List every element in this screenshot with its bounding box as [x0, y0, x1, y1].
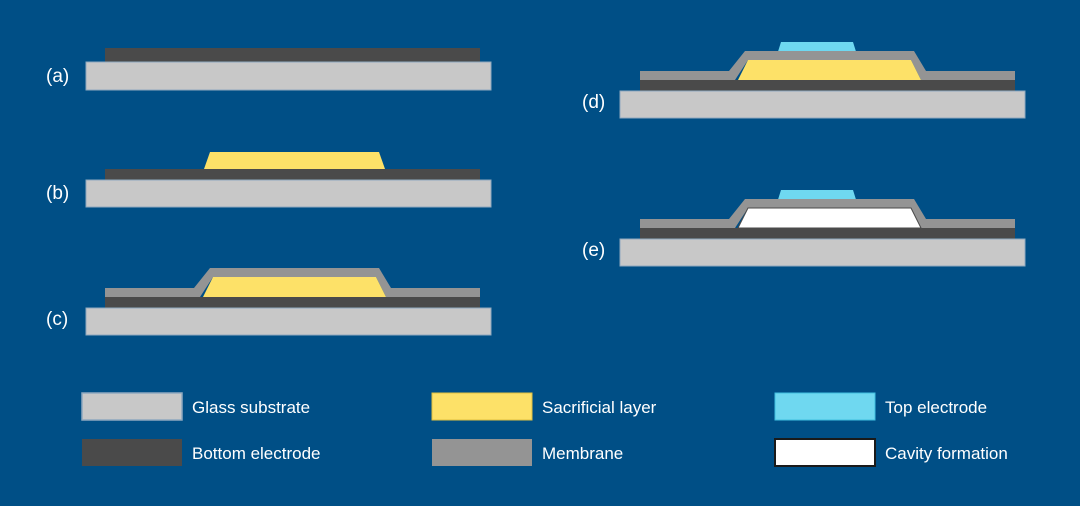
legend-item-membrane: Membrane — [432, 439, 623, 466]
panel-c-bottom-electrode — [105, 297, 480, 308]
legend-item-sacrificial-layer: Sacrificial layer — [432, 393, 657, 420]
panel-e-glass-substrate — [620, 239, 1025, 266]
panel-b-glass-substrate — [86, 180, 491, 207]
legend-swatch-top-electrode — [775, 393, 875, 420]
panel-e-label: (e) — [582, 240, 605, 261]
panel-a: (a) — [46, 48, 491, 90]
panel-c-label: (c) — [46, 309, 68, 330]
panel-e-bottom-electrode — [640, 228, 1015, 239]
panel-b-bottom-electrode — [105, 169, 480, 180]
legend-swatch-cavity-formation — [775, 439, 875, 466]
legend-item-bottom-electrode: Bottom electrode — [82, 439, 321, 466]
legend-label-top-electrode: Top electrode — [885, 398, 987, 417]
panel-a-glass-substrate — [86, 62, 491, 90]
legend-item-glass-substrate: Glass substrate — [82, 393, 310, 420]
legend-label-cavity-formation: Cavity formation — [885, 444, 1008, 463]
panel-c-sacrificial-layer — [203, 277, 386, 297]
legend-label-glass-substrate: Glass substrate — [192, 398, 310, 417]
panel-a-label: (a) — [46, 66, 69, 87]
legend-swatch-glass-substrate — [82, 393, 182, 420]
panel-d-label: (d) — [582, 92, 605, 113]
panel-a-bottom-electrode — [105, 48, 480, 62]
process-flow-figure: (a) (b) (c) (d) — [0, 0, 1080, 506]
panel-c-glass-substrate — [86, 308, 491, 335]
panel-e-cavity — [738, 208, 921, 228]
diagram-canvas: (a) (b) (c) (d) — [0, 0, 1080, 506]
legend-swatch-bottom-electrode — [82, 439, 182, 466]
legend-label-membrane: Membrane — [542, 444, 623, 463]
panel-d-sacrificial-layer — [738, 60, 921, 80]
legend-swatch-sacrificial-layer — [432, 393, 532, 420]
legend-item-cavity-formation: Cavity formation — [775, 439, 1008, 466]
panel-b-sacrificial-layer — [204, 152, 385, 169]
legend-swatch-membrane — [432, 439, 532, 466]
panel-d-bottom-electrode — [640, 80, 1015, 91]
legend-label-sacrificial-layer: Sacrificial layer — [542, 398, 657, 417]
panel-d-glass-substrate — [620, 91, 1025, 118]
panel-b-label: (b) — [46, 183, 69, 204]
legend-label-bottom-electrode: Bottom electrode — [192, 444, 321, 463]
